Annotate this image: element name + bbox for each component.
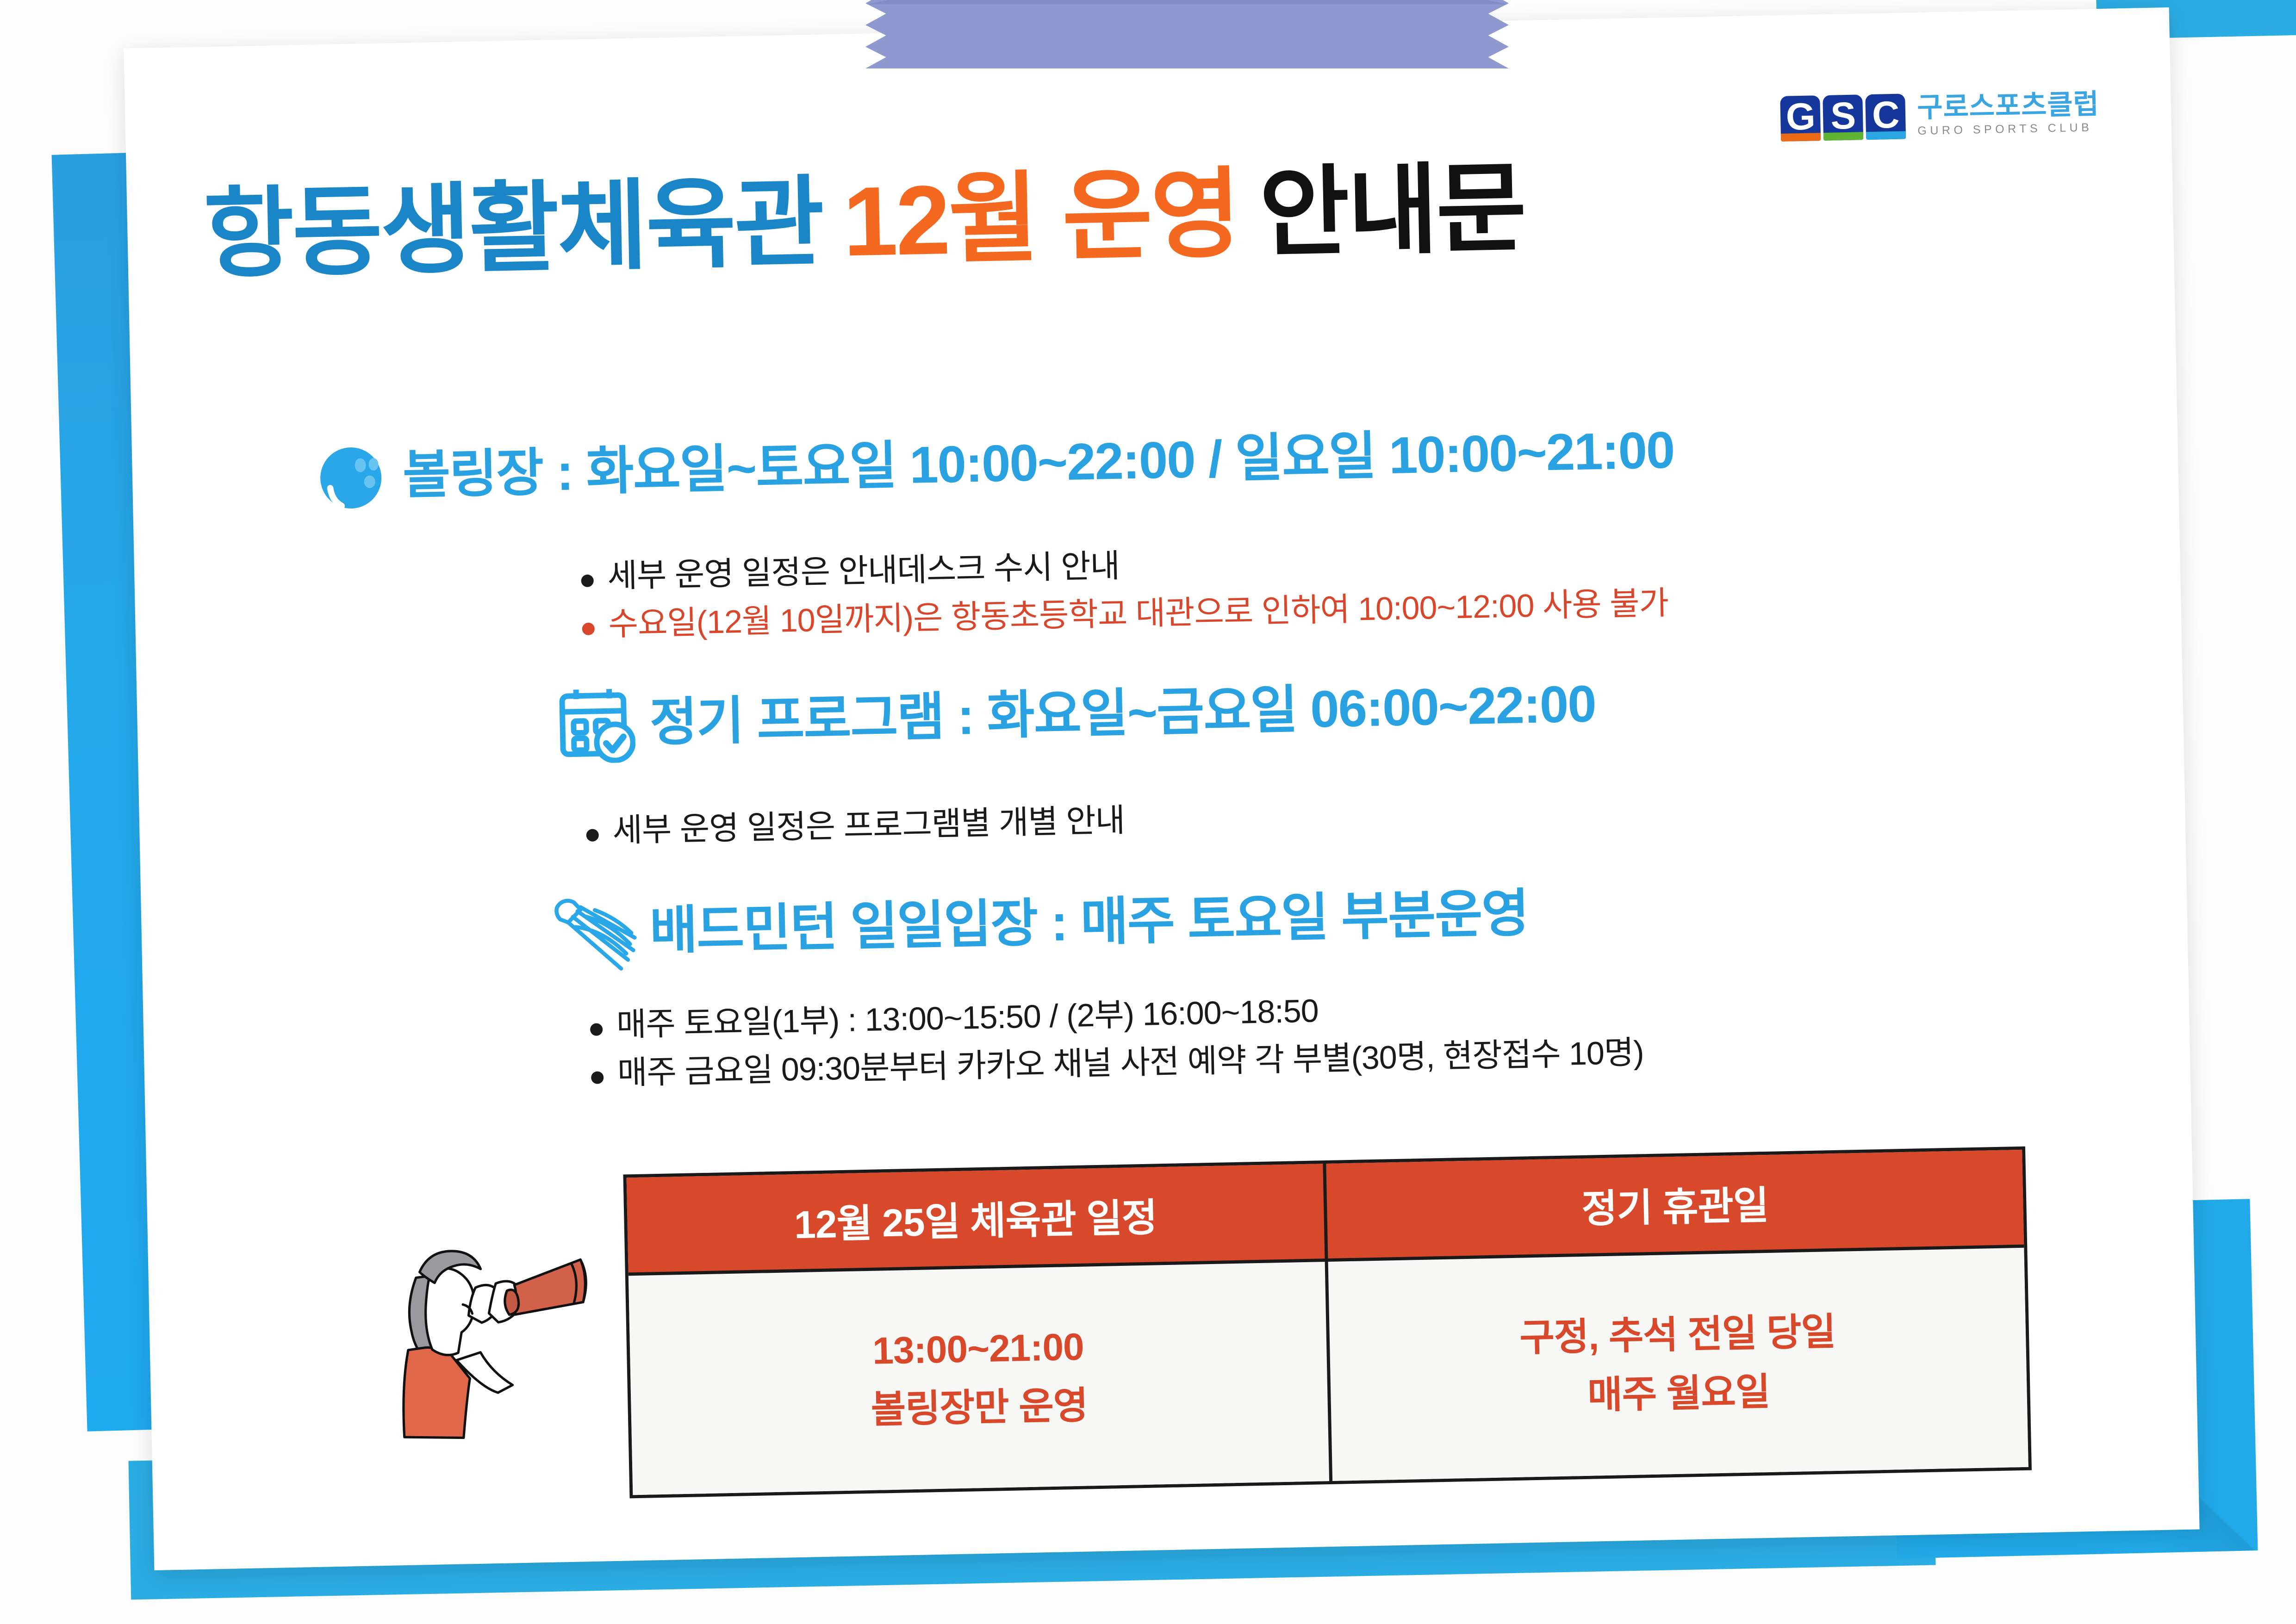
decor-ribbon-tape — [865, 0, 1509, 68]
section-heading-bowling-text: 볼링장 : 화요일~토요일 10:00~22:00 / 일요일 10:00~21… — [402, 424, 1674, 502]
bullet-dot-icon — [582, 622, 595, 635]
list-item: 세부 운영 일정은 프로그램별 개별 안내 — [586, 804, 1125, 849]
table-cell-holiday-schedule: 13:00~21:00 볼링장만 운영 — [628, 1260, 1331, 1495]
woman-with-megaphone-illustration — [365, 1216, 610, 1452]
list-item: 매주 토요일(1부) : 13:00~15:50 / (2부) 16:00~18… — [590, 987, 1643, 1042]
logo-letter-s: S — [1823, 94, 1863, 141]
section-heading-bowling: 볼링장 : 화요일~토요일 10:00~22:00 / 일요일 10:00~21… — [317, 413, 1675, 514]
table-cell-closed-days: 구정, 추석 전일 당일 매주 월요일 — [1326, 1246, 2028, 1481]
page-title-part-venue: 항동생활체육관 — [203, 173, 823, 284]
list-item-text: 세부 운영 일정은 프로그램별 개별 안내 — [612, 804, 1125, 848]
section-heading-badminton-text: 배드민턴 일일입장 : 매주 토요일 부분운영 — [649, 887, 1529, 957]
logo-letter-s-text: S — [1830, 95, 1855, 137]
bullet-dot-icon — [586, 829, 599, 842]
page-title-part-month: 12월 운영 — [842, 165, 1240, 271]
page-title-part-notice: 안내문 — [1258, 159, 1525, 262]
logo-korean-name: 구로스포츠클럽 — [1917, 90, 2100, 122]
gsc-logo-mark: G S C — [1780, 93, 1906, 141]
list-item-text: 세부 운영 일정은 안내데스크 수시 안내 — [607, 549, 1120, 594]
section-heading-program: 정기 프로그램 : 화요일~금요일 06:00~22:00 — [555, 664, 1596, 764]
page-title: 항동생활체육관 12월 운영 안내문 — [203, 159, 1525, 284]
logo-english-name: GURO SPORTS CLUB — [1917, 122, 2100, 137]
table-header-cell-closed-days: 정기 휴관일 — [1324, 1150, 2024, 1260]
poster-canvas: G S C 구로스포츠클럽 GURO SPORTS CLUB 항동생활체육관 1… — [0, 0, 2296, 1624]
bullet-list-program: 세부 운영 일정은 프로그램별 개별 안내 — [586, 804, 1125, 862]
table-row: 13:00~21:00 볼링장만 운영 구정, 추석 전일 당일 매주 월요일 — [628, 1246, 2028, 1495]
bullet-dot-icon — [581, 575, 594, 588]
list-item-text: 수요일(12월 10일까지)은 항동초등학교 대관으로 인하여 10:00~12… — [608, 586, 1669, 641]
section-heading-program-text: 정기 프로그램 : 화요일~금요일 06:00~22:00 — [649, 678, 1596, 749]
list-item: 세부 운영 일정은 안내데스크 수시 안내 — [581, 538, 1668, 594]
schedule-table: 12월 25일 체육관 일정 정기 휴관일 13:00~21:00 볼링장만 운… — [623, 1147, 2031, 1499]
bullet-dot-icon — [591, 1071, 604, 1084]
bullet-list-bowling: 세부 운영 일정은 안내데스크 수시 안내 수요일(12월 10일까지)은 항동… — [581, 538, 1669, 656]
shuttlecock-icon — [548, 892, 637, 973]
bowling-ball-icon — [317, 439, 388, 514]
calendar-check-icon — [555, 684, 635, 764]
gsc-logo-wordmark: 구로스포츠클럽 GURO SPORTS CLUB — [1917, 90, 2100, 139]
logo-letter-c: C — [1865, 93, 1906, 140]
poster-paper: G S C 구로스포츠클럽 GURO SPORTS CLUB 항동생활체육관 1… — [124, 7, 2199, 1570]
poster-content: G S C 구로스포츠클럽 GURO SPORTS CLUB 항동생활체육관 1… — [124, 7, 2199, 1570]
list-item-text: 매주 금요일 09:30분부터 카카오 채널 사전 예약 각 부별(30명, 현… — [617, 1035, 1644, 1090]
bullet-dot-icon — [590, 1023, 603, 1036]
section-heading-badminton: 배드민턴 일일입장 : 매주 토요일 부분운영 — [548, 874, 1529, 972]
table-header-cell-holiday-schedule: 12월 25일 체육관 일정 — [627, 1164, 1326, 1274]
logo-letter-c-text: C — [1872, 94, 1899, 136]
gsc-logo: G S C 구로스포츠클럽 GURO SPORTS CLUB — [1780, 90, 2100, 142]
list-item-text: 매주 토요일(1부) : 13:00~15:50 / (2부) 16:00~18… — [616, 994, 1319, 1042]
bullet-list-badminton: 매주 토요일(1부) : 13:00~15:50 / (2부) 16:00~18… — [590, 987, 1644, 1104]
list-item: 수요일(12월 10일까지)은 항동초등학교 대관으로 인하여 10:00~12… — [582, 586, 1669, 642]
logo-letter-g-text: G — [1786, 95, 1815, 138]
logo-letter-g: G — [1780, 95, 1821, 142]
list-item: 매주 금요일 09:30분부터 카카오 채널 사전 예약 각 부별(30명, 현… — [591, 1035, 1644, 1091]
